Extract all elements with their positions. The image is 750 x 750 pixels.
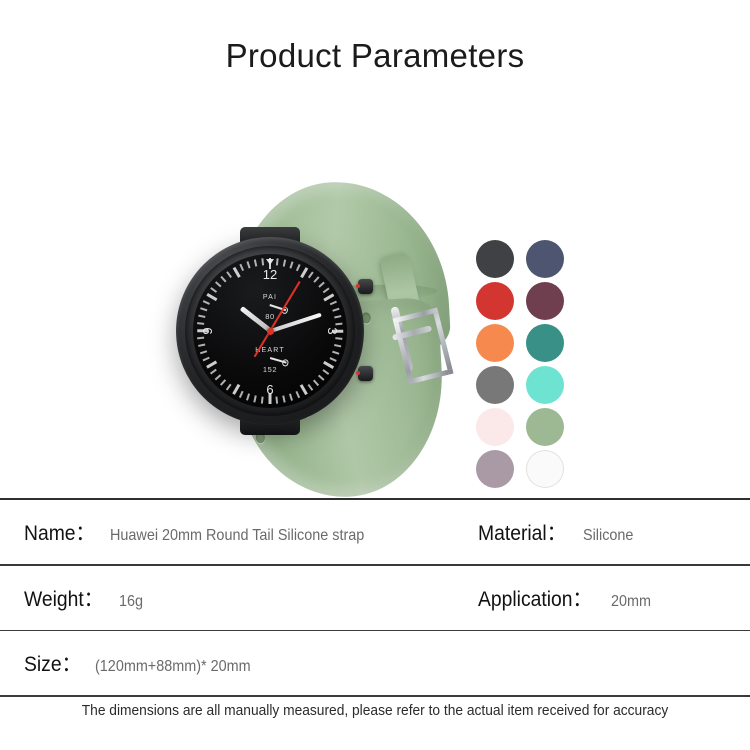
dial-tick xyxy=(240,264,244,271)
dial-tick xyxy=(330,301,337,305)
color-swatch-sage-green[interactable] xyxy=(524,408,566,446)
dial-tick xyxy=(198,344,205,347)
dial-tick xyxy=(330,357,337,361)
swatch-dot xyxy=(526,408,564,446)
color-swatch-red[interactable] xyxy=(474,282,516,320)
color-swatch-pale-pink[interactable] xyxy=(474,408,516,446)
dial-tick xyxy=(334,315,341,318)
spec-label: Material： xyxy=(478,517,566,547)
color-swatch-orange[interactable] xyxy=(474,324,516,362)
dial-tick xyxy=(323,288,330,293)
dial-tick xyxy=(203,301,210,305)
dial-tick xyxy=(336,323,343,325)
dial-tick xyxy=(215,375,221,381)
dial-tick xyxy=(319,282,325,288)
dial-numeral-6: 6 xyxy=(266,382,273,397)
swatch-dot xyxy=(526,450,564,488)
dial-tick xyxy=(206,294,217,302)
dial-tick xyxy=(215,282,221,288)
spec-label: Size： xyxy=(24,648,81,678)
dial-tick xyxy=(283,396,286,403)
color-swatch-slate-blue[interactable] xyxy=(524,240,566,278)
dial-numeral-9: 9 xyxy=(200,328,215,335)
dial-tick xyxy=(308,272,313,279)
dial-tick xyxy=(276,397,278,404)
dial-numeral-3: 3 xyxy=(325,328,340,335)
watch-button-accent-dot xyxy=(356,371,360,375)
dial-tick xyxy=(262,397,264,404)
dial-tick xyxy=(300,267,308,278)
dial-tick xyxy=(296,264,300,271)
product-hero: 12 3 6 9 PAI 80 HEART 152 xyxy=(0,74,750,474)
spec-cell-name: Name： Huawei 20mm Round Tail Silicone st… xyxy=(24,517,393,547)
spec-value: 20mm xyxy=(611,593,651,611)
spec-table: Name： Huawei 20mm Round Tail Silicone st… xyxy=(0,498,750,697)
dial-tick xyxy=(197,337,204,339)
spec-cell-application: Application： 20mm xyxy=(478,583,655,613)
watch-button-top xyxy=(358,279,373,294)
color-swatch-mint[interactable] xyxy=(524,366,566,404)
dial-tick xyxy=(254,396,257,403)
dial-tick xyxy=(240,391,244,398)
dial-tick xyxy=(308,384,313,391)
dial-tick xyxy=(200,308,207,312)
dial-tick xyxy=(211,369,218,374)
dial-tick xyxy=(300,384,308,395)
dial-tick xyxy=(323,294,334,302)
spec-cell-material: Material： Silicone xyxy=(478,517,639,547)
dial-tick xyxy=(323,361,334,369)
watch-button-accent-dot xyxy=(356,284,360,288)
subdial-pai-label: PAI xyxy=(263,294,277,301)
dial-tick xyxy=(262,259,264,266)
swatch-dot xyxy=(526,366,564,404)
swatch-dot xyxy=(526,240,564,278)
dial-tick xyxy=(254,260,257,267)
dial-tick xyxy=(247,394,251,401)
product-image: 12 3 6 9 PAI 80 HEART 152 xyxy=(0,74,470,474)
spec-value: (120mm+88mm)* 20mm xyxy=(95,658,251,676)
color-swatch-white[interactable] xyxy=(524,450,566,488)
smartwatch: 12 3 6 9 PAI 80 HEART 152 xyxy=(176,237,364,425)
page-title: Product Parameters xyxy=(0,0,750,74)
watch-screen: 12 3 6 9 PAI 80 HEART 152 xyxy=(193,254,347,408)
swatch-dot xyxy=(526,282,564,320)
swatch-dot xyxy=(476,408,514,446)
hand-center-cap xyxy=(267,328,274,335)
dial-tick xyxy=(276,259,278,266)
dial-tick xyxy=(290,394,294,401)
dial-tick xyxy=(232,384,240,395)
spec-label: Application： xyxy=(478,583,592,613)
color-swatch-gray[interactable] xyxy=(474,366,516,404)
swatch-dot xyxy=(526,324,564,362)
spec-label: Weight： xyxy=(24,583,103,613)
dial-tick xyxy=(200,351,207,355)
dial-tick xyxy=(323,369,330,374)
dial-tick xyxy=(226,272,231,279)
color-swatch-mauve[interactable] xyxy=(474,450,516,488)
table-row: Name： Huawei 20mm Round Tail Silicone st… xyxy=(0,500,750,564)
table-divider xyxy=(0,695,750,697)
dial-tick xyxy=(221,277,227,283)
dial-tick xyxy=(197,323,204,325)
spec-value: Huawei 20mm Round Tail Silicone strap xyxy=(110,527,364,545)
dial-numeral-12: 12 xyxy=(263,267,277,282)
subdial-heart-needle xyxy=(270,357,287,363)
dial-tick xyxy=(333,308,340,312)
swatch-dot xyxy=(476,324,514,362)
dial-tick xyxy=(290,262,294,269)
spec-cell-weight: Weight： 16g xyxy=(24,583,146,613)
dial-tick xyxy=(232,267,240,278)
dial-tick xyxy=(334,344,341,347)
table-row: Size： (120mm+88mm)* 20mm xyxy=(0,631,750,695)
dial-tick xyxy=(319,375,325,381)
table-row: Weight： 16g Application： 20mm xyxy=(0,566,750,630)
dial-tick xyxy=(314,380,320,386)
swatch-dot xyxy=(476,240,514,278)
spec-value: 16g xyxy=(119,593,143,611)
color-swatch-charcoal[interactable] xyxy=(474,240,516,278)
dial-tick xyxy=(296,391,300,398)
dial-tick xyxy=(211,288,218,293)
dial-tick xyxy=(333,351,340,355)
color-swatch-grid xyxy=(474,240,566,492)
measurement-disclaimer: The dimensions are all manually measured… xyxy=(19,703,732,719)
spec-label: Name： xyxy=(24,517,95,547)
color-swatch-plum[interactable] xyxy=(524,282,566,320)
watch-button-bottom xyxy=(358,366,373,381)
color-swatch-teal[interactable] xyxy=(524,324,566,362)
swatch-dot xyxy=(476,450,514,488)
dial-tick xyxy=(283,260,286,267)
swatch-dot xyxy=(476,282,514,320)
subdial-heart-value: 152 xyxy=(255,365,285,374)
dial-tick xyxy=(314,277,320,283)
subdial-heart: HEART 152 xyxy=(255,347,285,374)
dial-tick xyxy=(203,357,210,361)
swatch-dot xyxy=(476,366,514,404)
subdial-pai: PAI 80 xyxy=(263,294,277,321)
dial-tick xyxy=(221,380,227,386)
dial-tick xyxy=(247,262,251,269)
dial-tick xyxy=(226,384,231,391)
spec-value: Silicone xyxy=(583,527,633,545)
dial-tick xyxy=(198,315,205,318)
spec-cell-size: Size： (120mm+88mm)* 20mm xyxy=(24,648,268,678)
dial-tick xyxy=(336,337,343,339)
dial-tick xyxy=(206,361,217,369)
